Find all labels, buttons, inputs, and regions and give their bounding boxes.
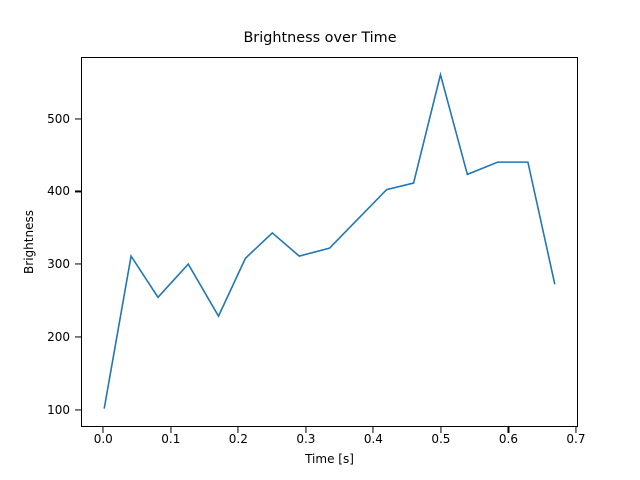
x-tick-label: 0.3 — [296, 432, 315, 446]
x-tick-mark — [508, 427, 509, 433]
x-tick-mark — [238, 427, 239, 433]
x-tick-label: 0.2 — [229, 432, 248, 446]
x-tick-mark — [170, 427, 171, 433]
x-axis-label: Time [s] — [81, 452, 578, 466]
plot-area — [81, 57, 578, 427]
y-tick-label: 100 — [47, 403, 70, 417]
x-tick-label: 0.5 — [431, 432, 450, 446]
y-tick-label: 200 — [47, 330, 70, 344]
x-tick-mark — [103, 427, 104, 433]
y-tick-label: 300 — [47, 257, 70, 271]
y-tick-label: 400 — [47, 184, 70, 198]
x-tick-label: 0.1 — [161, 432, 180, 446]
data-line-svg — [82, 58, 577, 426]
x-tick-mark — [440, 427, 441, 433]
x-tick-label: 0.4 — [364, 432, 383, 446]
y-axis-label: Brightness — [22, 57, 38, 427]
x-tick-mark — [373, 427, 374, 433]
chart-figure: Brightness over Time Brightness Time [s]… — [0, 0, 640, 480]
x-tick-mark — [575, 427, 576, 433]
chart-title: Brightness over Time — [0, 30, 640, 46]
y-tick-label: 500 — [47, 112, 70, 126]
x-tick-label: 0.7 — [566, 432, 585, 446]
data-series-line — [104, 75, 555, 409]
x-tick-label: 0.6 — [499, 432, 518, 446]
x-tick-mark — [305, 427, 306, 433]
x-tick-label: 0.0 — [94, 432, 113, 446]
